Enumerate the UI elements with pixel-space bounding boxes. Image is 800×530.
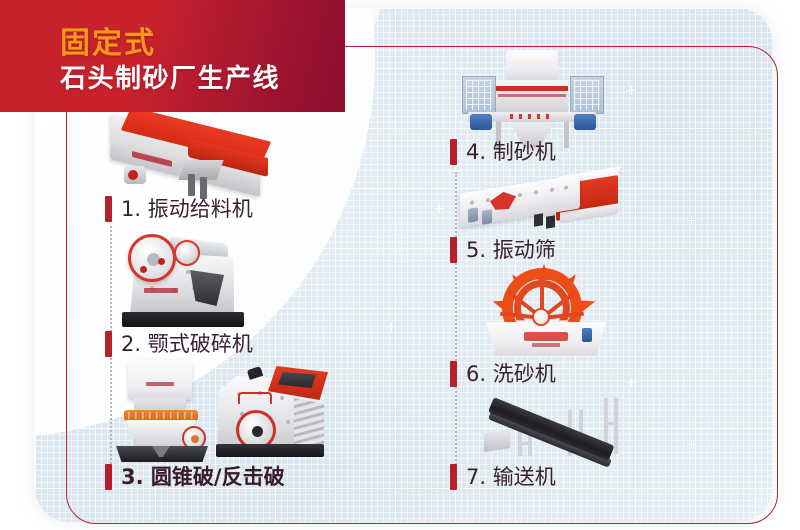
item-marker-bar: [450, 139, 457, 165]
sand-washing-machine-illustration: [486, 266, 606, 356]
belt-conveyor-illustration: [484, 386, 626, 458]
item-marker-bar: [450, 237, 457, 263]
list-item-label: 4. 制砂机: [466, 139, 556, 165]
banner-title: 石头制砂厂生产线: [60, 58, 280, 95]
list-item-5[interactable]: 5. 振动筛: [450, 237, 556, 263]
jaw-crusher-illustration: [118, 226, 268, 332]
list-item-label: 5. 振动筛: [466, 237, 556, 263]
vibrating-feeder-illustration: [104, 114, 284, 200]
item-marker-bar: [105, 196, 112, 222]
infographic-stage: 1. 振动给料机 2. 颚式破碎机 3. 圆锥破/反击破 4. 制砂机 5. 振…: [0, 0, 800, 530]
header-banner: 固定式 石头制砂厂生产线: [0, 0, 345, 112]
list-item-7[interactable]: 7. 输送机: [450, 464, 556, 490]
banner-subtitle: 固定式: [60, 18, 156, 62]
item-marker-bar: [450, 464, 457, 490]
vibrating-screen-illustration: [456, 168, 624, 240]
list-item-6[interactable]: 6. 洗砂机: [450, 361, 556, 387]
list-item-4[interactable]: 4. 制砂机: [450, 139, 556, 165]
item-marker-bar: [105, 331, 112, 357]
list-item-label: 6. 洗砂机: [466, 361, 556, 387]
list-item-label: 1. 振动给料机: [121, 196, 253, 222]
list-item-label: 2. 颚式破碎机: [121, 331, 253, 357]
item-marker-bar: [450, 361, 457, 387]
list-item-label: 7. 输送机: [466, 464, 556, 490]
item-marker-bar: [105, 464, 112, 490]
sand-making-machine-illustration: [452, 44, 612, 154]
list-item-1[interactable]: 1. 振动给料机: [105, 196, 253, 222]
list-item-3[interactable]: 3. 圆锥破/反击破: [105, 464, 285, 490]
list-item-label: 3. 圆锥破/反击破: [121, 464, 285, 490]
list-item-2[interactable]: 2. 颚式破碎机: [105, 331, 253, 357]
impact-crusher-illustration: [210, 358, 340, 464]
cone-crusher-illustration: [112, 358, 220, 462]
